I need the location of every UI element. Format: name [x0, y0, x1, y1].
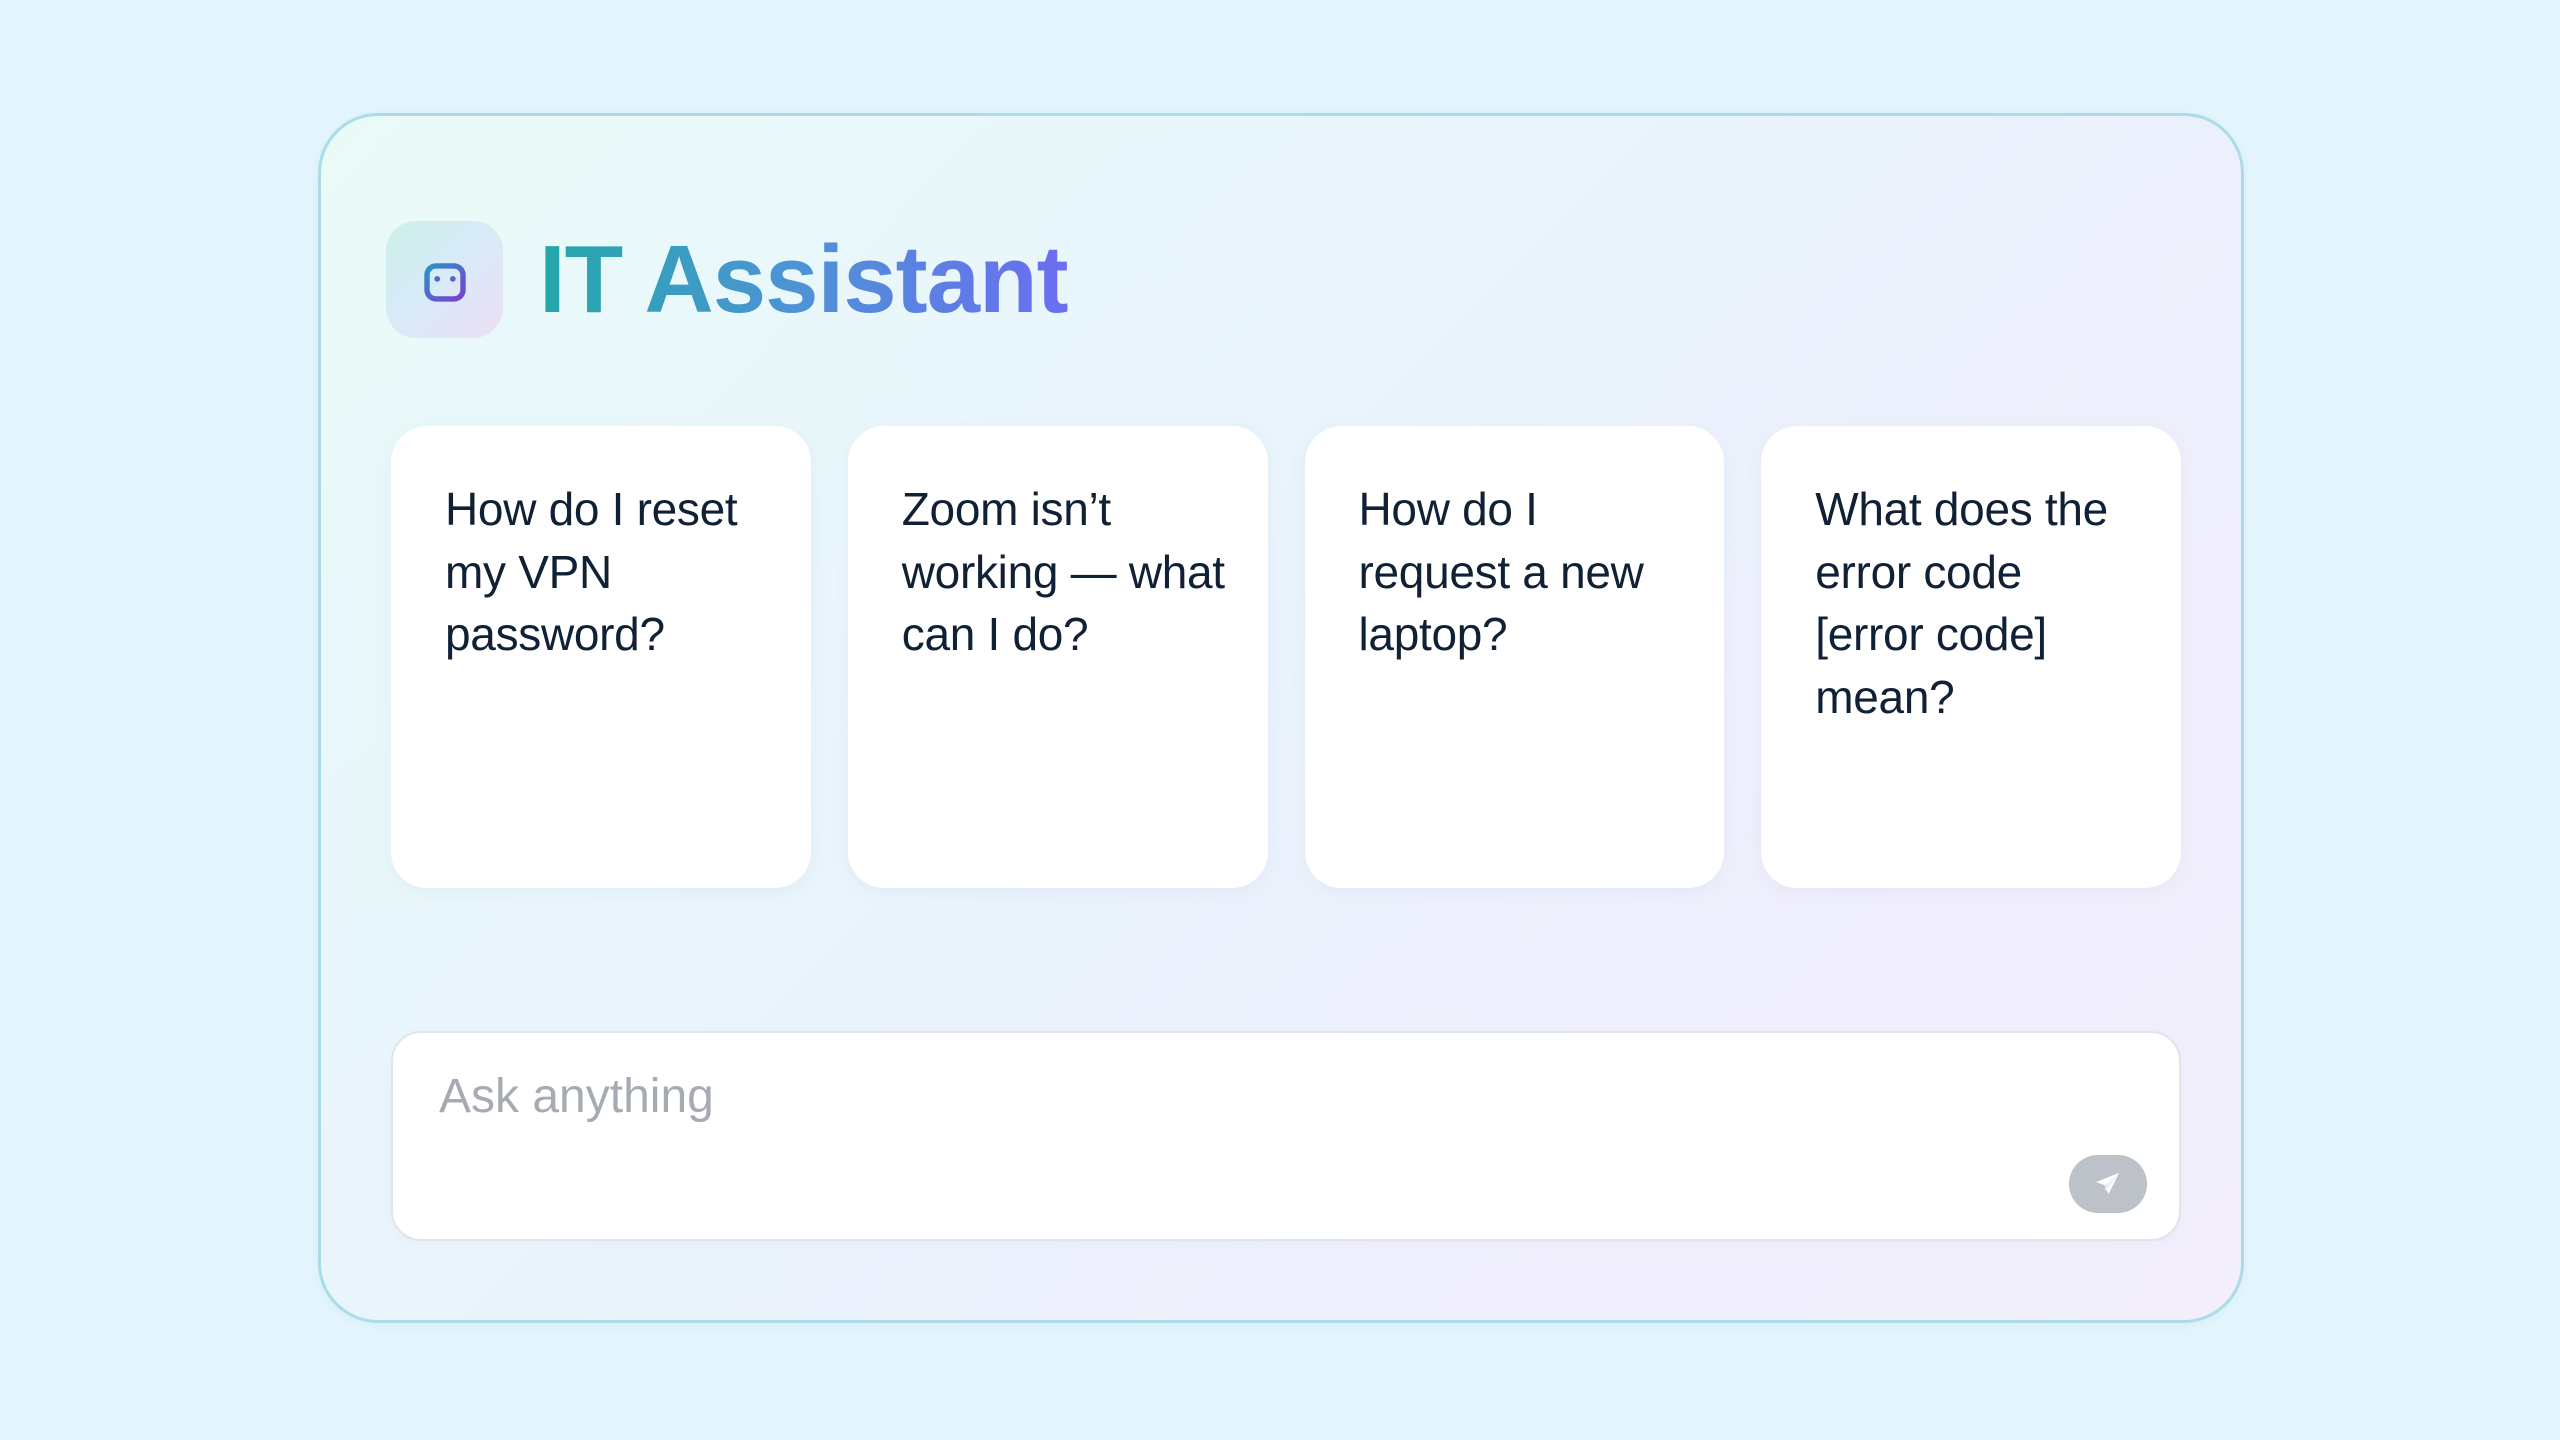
suggestion-card-label: How do I reset my VPN password? — [445, 478, 771, 666]
suggestion-card-label: What does the error code [error code] me… — [1815, 478, 2141, 728]
suggestion-card[interactable]: Zoom isn’t working — what can I do? — [848, 426, 1268, 888]
suggestion-cards: How do I reset my VPN password? Zoom isn… — [391, 426, 2181, 888]
robot-icon — [386, 221, 503, 338]
assistant-panel: IT Assistant How do I reset my VPN passw… — [318, 113, 2244, 1323]
suggestion-card-label: How do I request a new laptop? — [1359, 478, 1685, 666]
suggestion-card-label: Zoom isn’t working — what can I do? — [902, 478, 1228, 666]
suggestion-card[interactable]: What does the error code [error code] me… — [1761, 426, 2181, 888]
send-paper-plane-icon — [2093, 1169, 2123, 1199]
suggestion-card[interactable]: How do I reset my VPN password? — [391, 426, 811, 888]
page-title: IT Assistant — [539, 232, 1068, 328]
send-button[interactable] — [2069, 1155, 2147, 1213]
panel-header: IT Assistant — [386, 221, 1068, 338]
composer[interactable] — [391, 1031, 2181, 1241]
suggestion-card[interactable]: How do I request a new laptop? — [1305, 426, 1725, 888]
ask-anything-input[interactable] — [439, 1069, 1999, 1124]
